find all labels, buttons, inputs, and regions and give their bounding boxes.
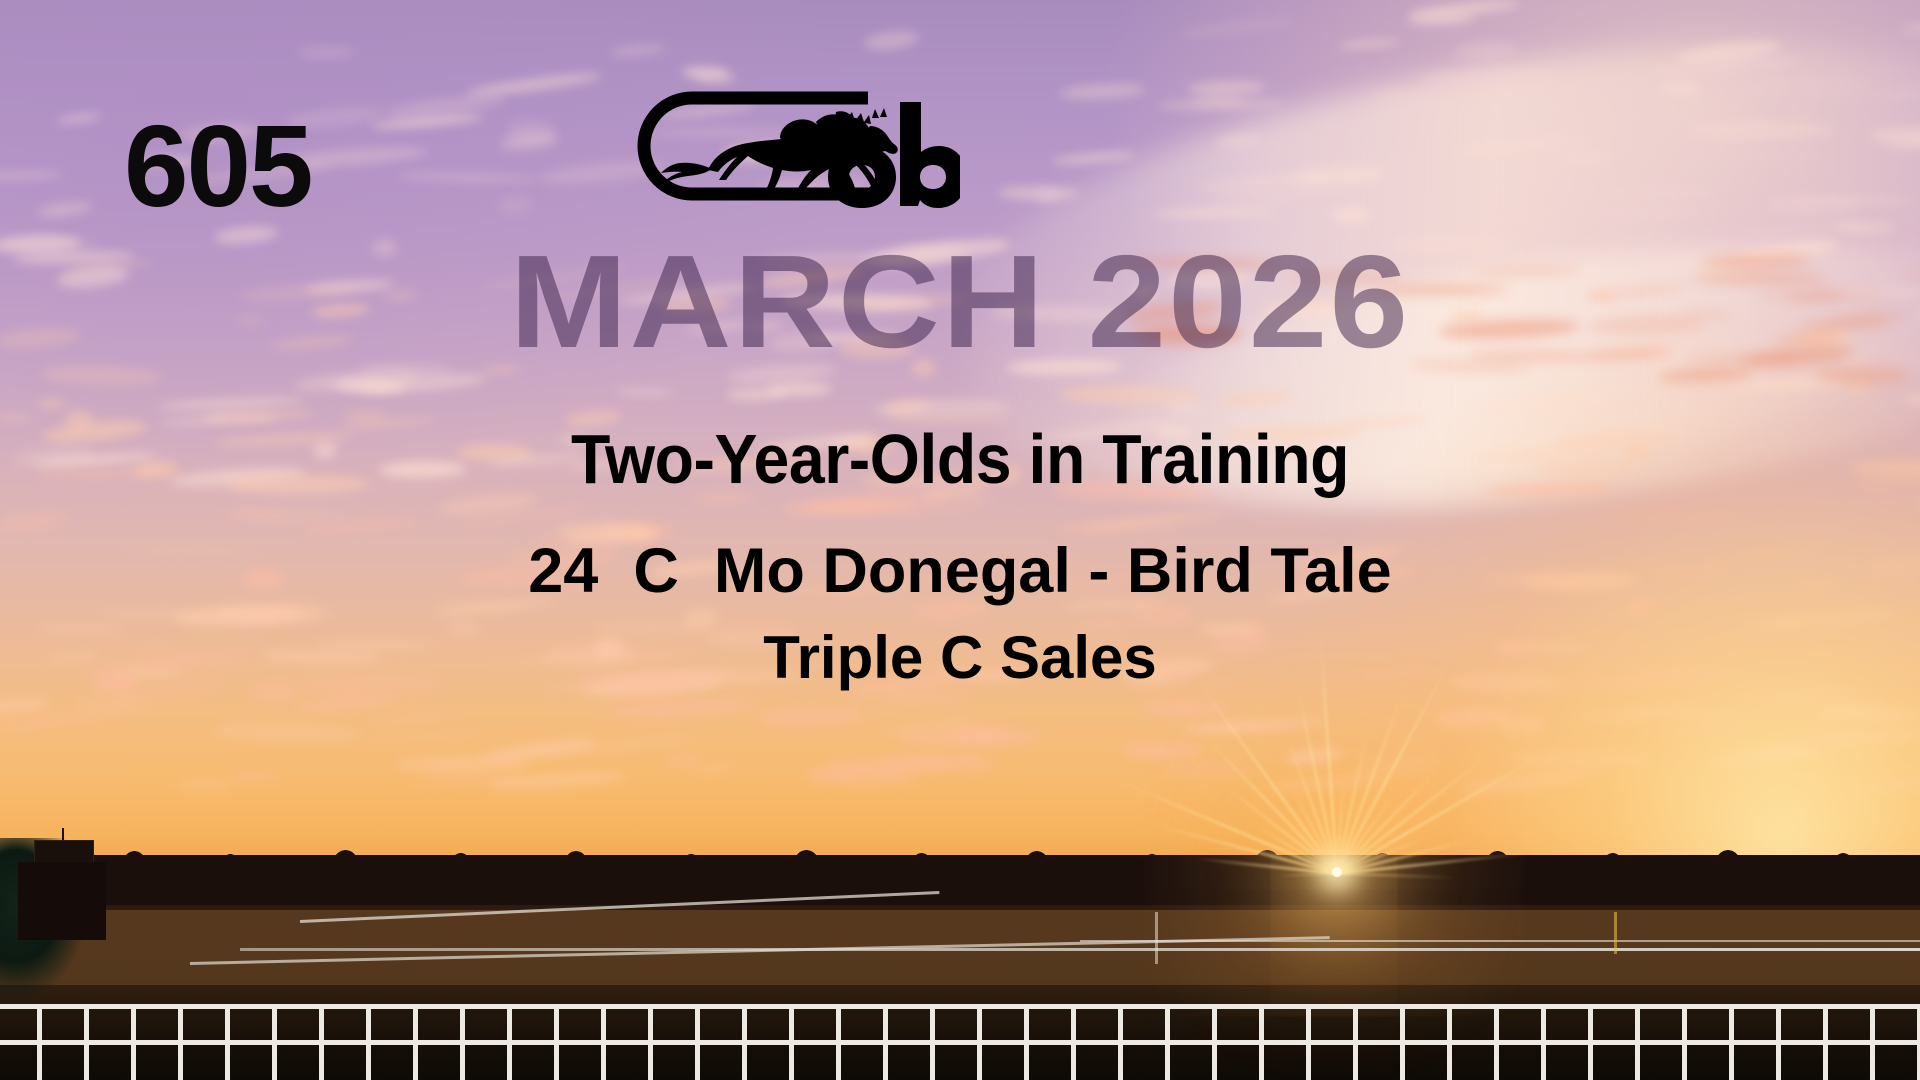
lot-description: 24 C Mo Donegal - Bird Tale bbox=[0, 540, 1920, 603]
treeline-silhouette bbox=[0, 855, 1920, 907]
track-distance-pole bbox=[1614, 912, 1617, 954]
consignor-name: Triple C Sales bbox=[0, 628, 1920, 688]
sale-month-year: MARCH 2026 bbox=[0, 236, 1920, 368]
far-rail bbox=[240, 948, 1920, 951]
sale-headline: Two-Year-Olds in Training bbox=[77, 424, 1843, 494]
obs-logo bbox=[630, 82, 960, 210]
near-rail-top-bar bbox=[0, 1004, 1920, 1009]
sales-card: 605 bbox=[0, 0, 1920, 1080]
track-marker-pole bbox=[1155, 912, 1158, 964]
sun-icon bbox=[1332, 867, 1342, 877]
grandstand-silhouette bbox=[18, 862, 106, 940]
hip-number: 605 bbox=[124, 108, 312, 224]
near-rail-bottom-bar bbox=[0, 1040, 1920, 1045]
